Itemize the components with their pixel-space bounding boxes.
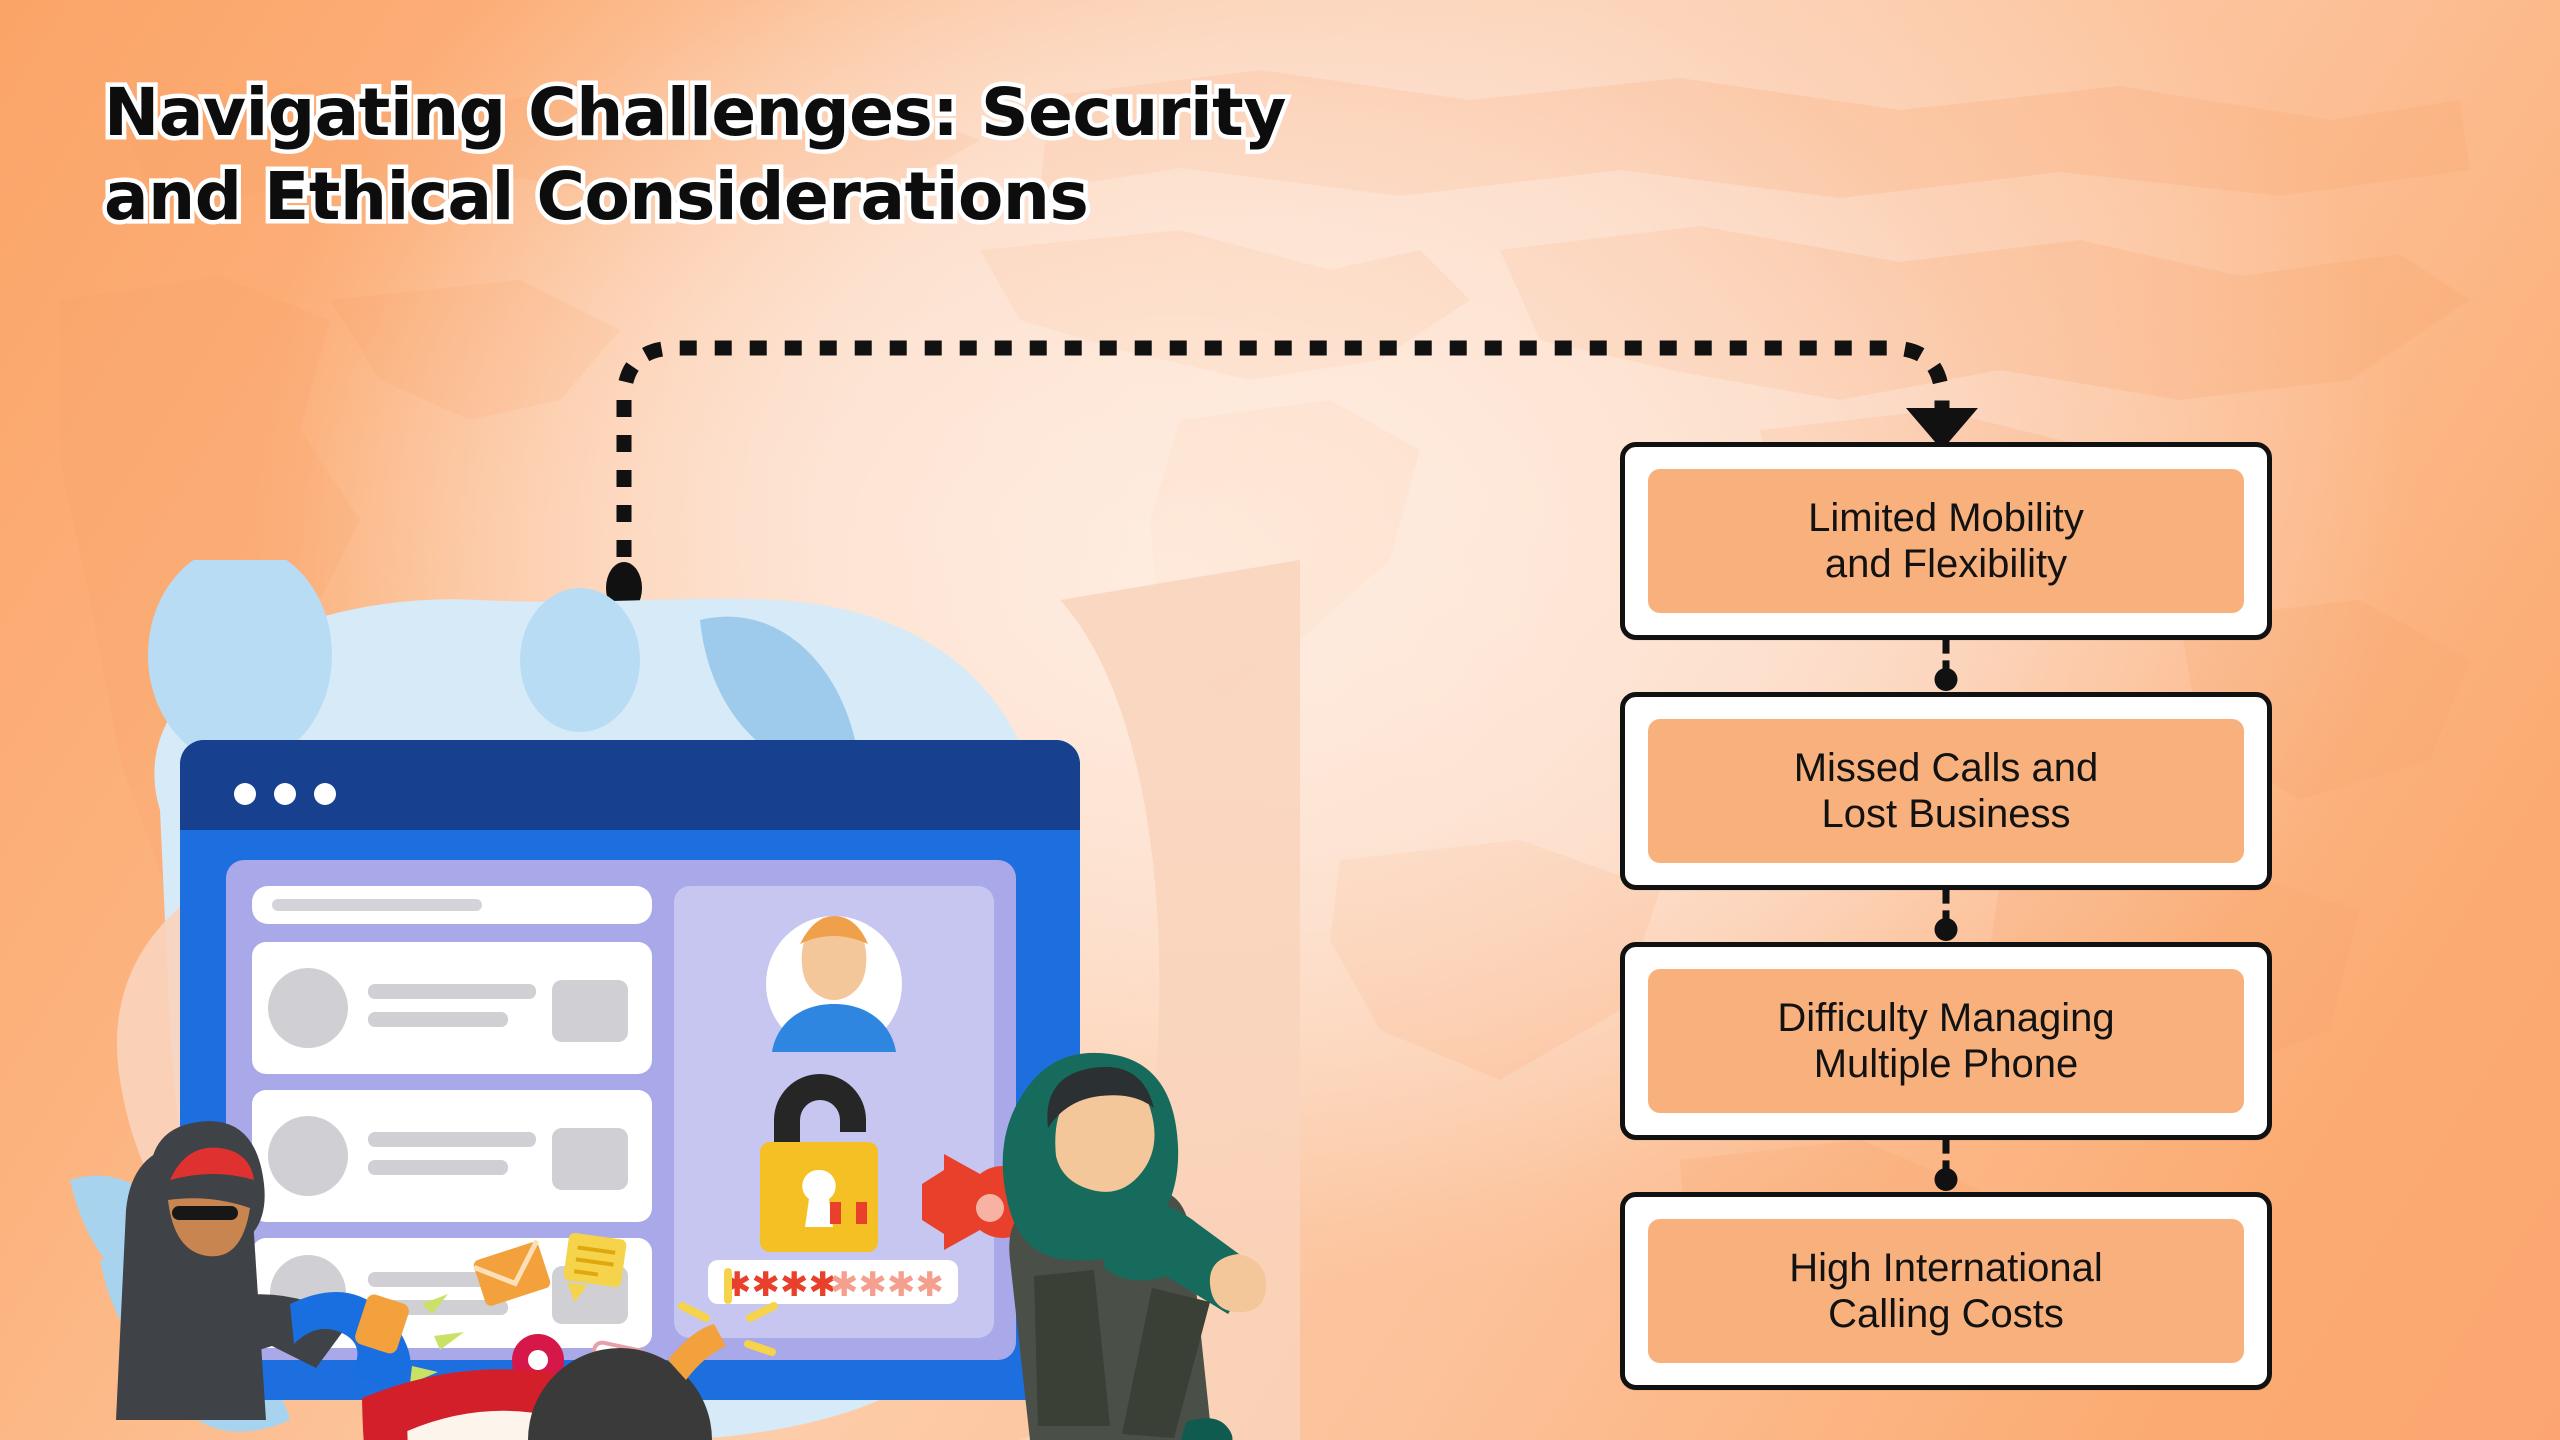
tree-circle-right xyxy=(520,588,640,732)
flow-box-label: Missed Calls and Lost Business xyxy=(1648,719,2244,863)
flow-connector-1 xyxy=(1620,640,2272,692)
flow-box-missed-calls[interactable]: Missed Calls and Lost Business xyxy=(1620,692,2272,890)
feed-card-2 xyxy=(252,1090,652,1222)
flow-box-label-line2: Calling Costs xyxy=(1828,1291,2064,1337)
flow-box-label: High International Calling Costs xyxy=(1648,1219,2244,1363)
feed-searchbar-placeholder xyxy=(272,899,482,911)
connector-dot xyxy=(1935,668,1958,691)
flow-box-label-line1: Limited Mobility xyxy=(1808,495,2084,541)
title-line-2: and Ethical Considerations xyxy=(104,164,1504,230)
slide-canvas: Navigating Challenges: Security and Ethi… xyxy=(0,0,2560,1440)
flow-box-label: Difficulty Managing Multiple Phone xyxy=(1648,969,2244,1113)
connector-dot xyxy=(1935,1168,1958,1191)
connector-dot xyxy=(1935,918,1958,941)
browser-window-dots-icon xyxy=(234,783,336,805)
flow-connector-3 xyxy=(1620,1140,2272,1192)
svg-text:✱✱✱✱: ✱✱✱✱ xyxy=(830,1265,944,1305)
svg-text:✱✱✱✱: ✱✱✱✱ xyxy=(723,1265,837,1305)
flow-box-label-line1: High International xyxy=(1789,1245,2103,1291)
feed-card-1 xyxy=(252,942,652,1074)
flow-box-label: Limited Mobility and Flexibility xyxy=(1648,469,2244,613)
flow-box-limited-mobility[interactable]: Limited Mobility and Flexibility xyxy=(1620,442,2272,640)
cyber-security-illustration: ✱✱✱✱ ✱✱✱✱ xyxy=(60,560,1300,1440)
title-line-1: Navigating Challenges: Security xyxy=(104,74,1286,151)
flow-box-label-line1: Difficulty Managing xyxy=(1777,995,2114,1041)
page-title: Navigating Challenges: Security and Ethi… xyxy=(104,80,1504,230)
flow-connector-2 xyxy=(1620,890,2272,942)
challenges-flow-list: Limited Mobility and Flexibility Missed … xyxy=(1620,442,2272,1390)
flow-box-label-line1: Missed Calls and xyxy=(1794,745,2099,791)
password-asterisks: ✱✱✱✱ ✱✱✱✱ xyxy=(723,1265,944,1305)
flow-box-label-line2: Multiple Phone xyxy=(1814,1041,2079,1087)
flow-box-label-line2: and Flexibility xyxy=(1825,541,2067,587)
flow-box-label-line2: Lost Business xyxy=(1821,791,2070,837)
flow-box-difficulty-managing[interactable]: Difficulty Managing Multiple Phone xyxy=(1620,942,2272,1140)
browser-titlebar xyxy=(180,740,1080,830)
flow-box-high-international[interactable]: High International Calling Costs xyxy=(1620,1192,2272,1390)
